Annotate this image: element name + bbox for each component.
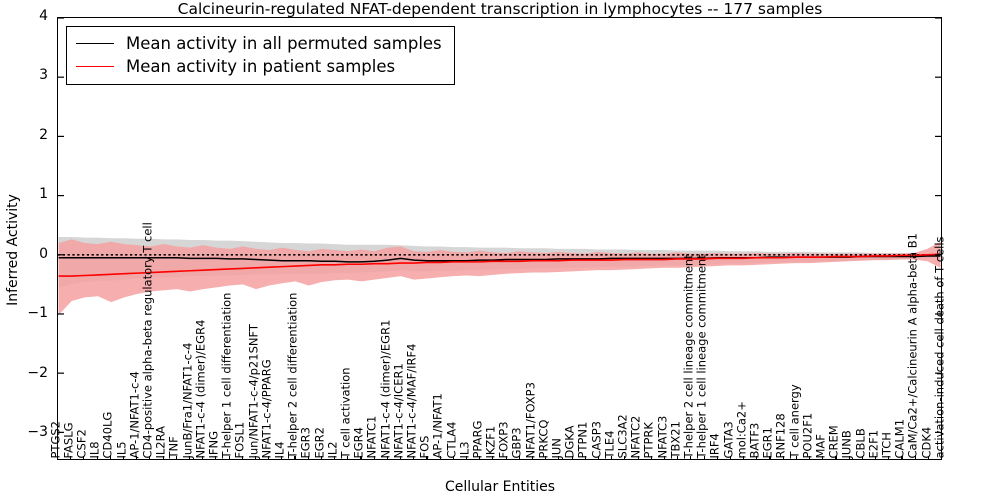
y-tick-label: −3 [0,424,48,440]
page-title: Calcineurin-regulated NFAT-dependent tra… [0,0,1000,18]
y-tick-label: 2 [0,127,48,143]
legend-label: Mean activity in all permuted samples [126,34,442,53]
legend-label: Mean activity in patient samples [126,57,395,76]
legend: Mean activity in all permuted samples Me… [66,26,455,85]
legend-swatch-patient [76,66,114,67]
chart-figure: Calcineurin-regulated NFAT-dependent tra… [0,0,1000,500]
legend-swatch-permuted [76,43,114,44]
legend-item: Mean activity in patient samples [76,55,442,78]
y-tick-label: 3 [0,67,48,83]
legend-item: Mean activity in all permuted samples [76,32,442,55]
y-axis-label: Inferred Activity [5,150,21,350]
y-tick-label: −2 [0,365,48,381]
x-axis-label: Cellular Entities [0,479,1000,495]
y-tick-label: 4 [0,8,48,24]
